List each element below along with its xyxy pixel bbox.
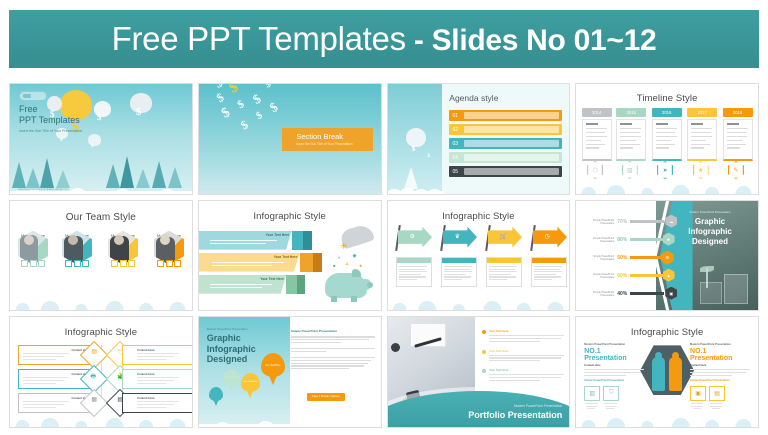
agenda-row[interactable]: 05 <box>449 166 562 177</box>
slide-thumbnail-07-infographic-arrows[interactable]: Infographic Style ⚙ ♛ 🛒 <box>387 200 571 312</box>
agenda-row-number: 02 <box>449 124 461 135</box>
percent-bar <box>630 292 664 295</box>
dollar-icon: $ <box>428 154 431 159</box>
headline-line1: Graphic <box>207 333 256 344</box>
slide-thumbnail-02-section-break[interactable]: $ $ $ $ $ $ $ $ $ $ $ $ $ $ Section Brea… <box>198 83 382 195</box>
left-tile[interactable]: ▥ <box>584 386 598 411</box>
percent-row: Simple PowerPoint Presentation 60% <box>580 272 664 280</box>
slide-thumbnail-11-portfolio[interactable]: Your Text Here Your Text Here <box>387 316 571 428</box>
percent-row: Simple PowerPoint Presentation 50% <box>580 254 664 262</box>
infographic-bar[interactable]: Your Text Here <box>198 231 323 250</box>
timeline-column[interactable]: 2018 <box>723 108 753 161</box>
bullet-dot-icon <box>482 330 486 334</box>
twitter-icon[interactable] <box>120 260 127 267</box>
body-heading: Simple PowerPoint Presentation <box>291 329 375 333</box>
award-icon: ♛ <box>455 233 460 240</box>
agenda-row-number: 05 <box>449 166 461 177</box>
timeline-column[interactable]: 2016 <box>652 108 682 161</box>
team-member[interactable]: 01 Member Name Group ■■■■ <box>18 231 48 267</box>
slide-title: Portfolio Presentation <box>468 410 562 420</box>
agenda-row[interactable]: 03 <box>449 138 562 149</box>
timeline-year: 2014 <box>582 108 612 117</box>
agenda-row-text <box>464 112 559 119</box>
slide-title: Our Team Style <box>10 212 192 223</box>
timeline-year: 2015 <box>616 108 646 117</box>
header-banner: Free PPT Templates - Slides No 01~12 <box>9 10 759 68</box>
person-silhouette <box>669 357 682 391</box>
cover-subtitle: Insert the Sub Title of Your Presentatio… <box>19 129 82 133</box>
star-icon: ✳ <box>340 241 348 252</box>
bullet-item: Your Text Here <box>482 349 564 361</box>
slide-thumbnail-09-infographic-diamonds[interactable]: Infographic Style Content Here ▤ Content… <box>9 316 193 428</box>
section-break-subtitle: Insert the Sub Title of Your Presentatio… <box>296 142 352 146</box>
ppt-logo-pill <box>19 91 47 101</box>
clock-icon: ◷ <box>545 233 550 240</box>
coin-icon: ◆ <box>353 253 357 259</box>
slide-kicker: Modern PowerPoint Presentation <box>514 404 562 408</box>
body-block: Simple PowerPoint Presentation <box>291 329 375 371</box>
page-title-suffix: - Slides No 01~12 <box>406 24 657 57</box>
percent-label: Simple PowerPoint Presentation <box>580 291 614 297</box>
agenda-row-text <box>464 126 559 133</box>
left-tile[interactable]: ⛉ <box>603 386 617 411</box>
slide-title: Infographic Style <box>199 211 381 222</box>
piggy-bank-icon <box>325 273 367 298</box>
bullet-label: Your Text Here <box>489 349 564 353</box>
cloud-band <box>387 297 571 310</box>
slide-headline: Graphic Infographic Designed <box>207 333 256 365</box>
pin-label: Your Text Here <box>209 387 223 401</box>
cta-button[interactable]: Keep it Simple. Impress <box>307 393 344 401</box>
bar-cap-end <box>297 275 305 294</box>
percent-value: 50% <box>617 255 627 261</box>
dollar-icon: $ <box>136 106 142 118</box>
timeline-column[interactable]: 2015 <box>616 108 646 161</box>
slide-thumbnail-03-agenda[interactable]: $ $ Agenda style 01 02 03 04 <box>387 83 571 195</box>
agenda-row[interactable]: 02 <box>449 124 562 135</box>
agenda-row-text <box>464 154 559 161</box>
coin-icon: ● <box>337 255 340 261</box>
percent-row: Simple PowerPoint Presentation 40% <box>580 290 664 298</box>
slide-thumbnail-01-cover[interactable]: $ $ $ $ $ $ Free PPT Templates Insert th… <box>9 83 193 195</box>
linkedin-icon[interactable] <box>38 260 45 267</box>
percent-label: Simple PowerPoint Presentation <box>580 219 614 225</box>
team-member[interactable]: 03 Member Name Contents ■■■■ <box>108 231 138 267</box>
cloud-band <box>575 414 759 427</box>
bullet-label: Your Text Here <box>489 329 564 333</box>
cover-title: Free PPT Templates <box>19 104 80 126</box>
agenda-row-number: 03 <box>449 138 461 149</box>
bar-cap <box>286 275 297 294</box>
pin-marker[interactable]: Your Text Here <box>241 373 260 392</box>
slide-thumbnail-12-infographic-people[interactable]: Infographic Style Modern PowerPoint Pres… <box>575 316 759 428</box>
linkedin-icon[interactable] <box>128 260 135 267</box>
bullet-item: Your Text Here <box>482 368 564 380</box>
timeline-column[interactable]: 2017 <box>687 108 717 161</box>
right-kicker: Modern PowerPoint Presentation <box>690 343 750 346</box>
cover-title-line2: PPT Templates <box>19 115 80 126</box>
cloud-band <box>387 182 445 195</box>
item-label: Content Here <box>137 396 155 400</box>
timeline-card <box>582 119 612 161</box>
cover-title-line1: Free <box>19 104 80 115</box>
percent-bar <box>630 256 664 259</box>
agenda-row[interactable]: 04 <box>449 152 562 163</box>
team-member[interactable]: 02 Member Name Marketing ■■■■ <box>62 231 92 267</box>
coin-icon: ▲ <box>345 261 350 267</box>
slide-title: Timeline Style <box>576 93 758 104</box>
headline-line3: Designed <box>207 354 256 365</box>
headline-line3: Designed <box>670 237 750 247</box>
dollar-icon: $ <box>97 112 102 122</box>
linkedin-icon[interactable] <box>174 260 181 267</box>
timeline-card <box>616 119 646 161</box>
pin-label: Your Text Here <box>261 353 285 377</box>
social-icons[interactable] <box>62 260 92 267</box>
arrow-card <box>486 257 523 287</box>
social-icons[interactable] <box>108 260 138 267</box>
infographic-bar[interactable]: Your Text Here <box>198 275 315 294</box>
bullet-label: Your Text Here <box>489 368 564 372</box>
right-heading: NO.1 Presentation <box>690 348 750 362</box>
bar-label: Your Text Here <box>266 233 290 237</box>
diamond-item[interactable]: Content Here <box>122 369 193 389</box>
headline-line2: Infographic <box>670 227 750 237</box>
right-sub: Content Here <box>690 364 750 367</box>
cloud-band <box>9 297 193 310</box>
cart-icon: 🛒 <box>500 233 507 240</box>
agenda-row[interactable]: 01 <box>449 110 562 121</box>
cloud-band <box>198 415 382 428</box>
timeline-card <box>723 119 753 161</box>
dollar-icon: $ <box>91 144 94 149</box>
item-label: Content Here <box>137 348 155 352</box>
headline-line1: Graphic <box>670 217 750 227</box>
left-sub: Content Here <box>584 364 644 367</box>
slide-thumbnail-08-graphic-designed[interactable]: Graphic Infographic Designed Modern Powe… <box>575 200 759 312</box>
facebook-icon[interactable] <box>21 260 28 267</box>
cover-footer: www.free-powerpoint-templates-design.com <box>18 188 68 191</box>
agenda-row-text <box>464 140 559 147</box>
person-silhouette <box>652 357 665 391</box>
bar-cap-end <box>303 231 312 250</box>
agenda-row-text <box>464 168 559 175</box>
bullet-item: Your Text Here <box>482 329 564 341</box>
section-break-title: Section Break <box>296 132 343 141</box>
left-kicker: Modern PowerPoint Presentation <box>584 343 644 346</box>
percent-bar <box>630 220 664 223</box>
timeline-card <box>687 119 717 161</box>
agenda-row-number: 04 <box>449 152 461 163</box>
twitter-icon[interactable] <box>30 260 37 267</box>
social-icons[interactable] <box>18 260 48 267</box>
diamond-item[interactable]: Content Here <box>122 393 193 413</box>
percent-row: Simple PowerPoint Presentation 80% <box>580 236 664 244</box>
headline-line2: Infographic <box>207 344 256 355</box>
pin-marker[interactable]: Your Text Here <box>209 387 223 401</box>
slide-thumbnail-06-infographic-bars[interactable]: Infographic Style Your Text Here Your Te… <box>198 200 382 312</box>
dollar-icon: $ <box>60 138 63 143</box>
percent-value: 70% <box>617 219 627 225</box>
slide-title: Agenda style <box>449 93 498 103</box>
bullet-dot-icon <box>482 369 486 373</box>
bar-cap-end <box>313 253 323 272</box>
slide-gallery-page: Free PPT Templates - Slides No 01~12 <box>0 0 768 435</box>
facebook-icon[interactable] <box>157 260 164 267</box>
percent-row: Simple PowerPoint Presentation 70% <box>580 218 664 226</box>
arrow-card <box>396 257 433 287</box>
percent-label: Simple PowerPoint Presentation <box>580 273 614 279</box>
timeline-column[interactable]: 2014 <box>582 108 612 161</box>
slide-thumbnail-04-timeline[interactable]: Timeline Style 2014 2015 <box>575 83 759 195</box>
book-icon: ▤ <box>709 386 725 401</box>
facebook-icon[interactable] <box>111 260 118 267</box>
twitter-icon[interactable] <box>74 260 81 267</box>
agenda-row-number: 01 <box>449 110 461 121</box>
percent-bar <box>630 274 664 277</box>
coin-icon: ■ <box>333 263 335 268</box>
pin-marker[interactable]: Your Text Here <box>223 369 240 386</box>
arrow-card <box>531 257 568 287</box>
cloud-band <box>575 181 759 194</box>
team-member[interactable]: 04 Member Name Contents ■■■■ <box>154 231 184 267</box>
diamond-item[interactable]: Content Here <box>122 345 193 365</box>
percent-label: Simple PowerPoint Presentation <box>580 237 614 243</box>
coin-icon: ★ <box>359 263 363 268</box>
agenda-side-art: $ $ <box>388 84 443 194</box>
bar-label: Your Text Here <box>260 277 284 281</box>
pin-label: Your Text Here <box>241 373 260 392</box>
slide-title: Infographic Style <box>576 327 758 338</box>
chart-icon: ▥ <box>584 386 600 401</box>
timeline-year: 2018 <box>723 108 753 117</box>
slide-thumbnail-10-graphic-pins[interactable]: Modern PowerPoint Presentation Graphic I… <box>198 316 382 428</box>
twitter-icon[interactable] <box>166 260 173 267</box>
infographic-bar[interactable]: Your Text Here <box>198 253 334 272</box>
linkedin-icon[interactable] <box>82 260 89 267</box>
gear-icon: ⚙ <box>410 233 415 240</box>
timeline-card <box>652 119 682 161</box>
left-footer: Simple PowerPoint Presentation <box>584 379 644 382</box>
pin-marker[interactable]: Your Text Here <box>261 353 285 377</box>
cloud-band <box>9 414 193 427</box>
bullet-dot-icon <box>482 350 486 354</box>
percent-value: 60% <box>617 273 627 279</box>
page-title-main: Free PPT Templates <box>112 20 406 57</box>
bar-cap <box>300 253 312 272</box>
bar-label: Your Text Here <box>274 255 298 259</box>
social-icons[interactable] <box>154 260 184 267</box>
facebook-icon[interactable] <box>65 260 72 267</box>
right-tile[interactable]: ▣ <box>690 386 704 411</box>
slide-title: Infographic Style <box>388 211 570 222</box>
shield-icon: ⛉ <box>603 386 619 401</box>
balloon-icon <box>406 128 426 147</box>
percent-value: 40% <box>617 291 627 297</box>
picture-icon: ▣ <box>690 386 706 401</box>
left-heading: NO.1 Presentation <box>584 348 644 362</box>
slide-grid: $ $ $ $ $ $ Free PPT Templates Insert th… <box>9 83 759 428</box>
percent-label: Simple PowerPoint Presentation <box>580 255 614 261</box>
slide-thumbnail-05-our-team[interactable]: Our Team Style 01 Member Name Group ■■■■ <box>9 200 193 312</box>
arrow-card <box>441 257 478 287</box>
right-tile[interactable]: ▤ <box>709 386 723 411</box>
item-label: Content Here <box>137 372 155 376</box>
timeline-year: 2016 <box>652 108 682 117</box>
slide-kicker: Modern PowerPoint Presentation <box>207 327 248 331</box>
dollar-icon: $ <box>412 144 416 153</box>
slide-kicker: Modern PowerPoint Presentation <box>670 210 750 214</box>
page-title: Free PPT Templates - Slides No 01~12 <box>112 20 657 58</box>
timeline-year: 2017 <box>687 108 717 117</box>
slide-headline: Graphic Infographic Designed <box>670 217 750 247</box>
percent-value: 80% <box>617 237 627 243</box>
right-footer: Simple PowerPoint Presentation <box>690 379 750 382</box>
bullet-list: Your Text Here Your Text Here <box>482 329 564 380</box>
right-block: Modern PowerPoint Presentation NO.1 Pres… <box>690 343 750 410</box>
section-break-bar: Section Break Insert the Sub Title of Yo… <box>282 128 373 151</box>
slide-title: Infographic Style <box>10 327 192 338</box>
pin-label: Your Text Here <box>223 369 240 386</box>
left-block: Modern PowerPoint Presentation NO.1 Pres… <box>584 343 644 410</box>
balloon-icon <box>88 134 101 146</box>
percent-bar <box>630 238 664 241</box>
bar-cap <box>292 231 303 250</box>
